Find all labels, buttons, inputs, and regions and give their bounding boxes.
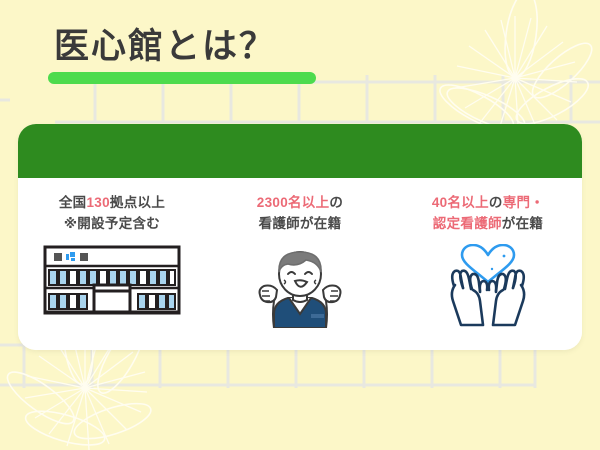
hands-heart-icon [436, 244, 540, 328]
certified-caption-line2: 認定看護師が在籍 [432, 213, 544, 234]
stats-columns: 全国130拠点以上 ※開設予定含む [18, 178, 582, 350]
nurses-line1-part2: の [329, 195, 343, 210]
stat-column-facilities: 全国130拠点以上 ※開設予定含む [18, 178, 206, 350]
certified-line1-highlight2: 専門・ [503, 195, 544, 210]
slide-root: 医心館とは？ 全国130拠点以上 ※開設予定含む [0, 0, 600, 450]
certified-illustration [436, 244, 540, 328]
facilities-line1-highlight: 130 [86, 195, 109, 210]
nurses-illustration [248, 244, 352, 328]
facilities-line1-part1: 全国 [59, 195, 87, 210]
right-hand [489, 271, 524, 325]
title-underline-highlight [48, 72, 316, 84]
building-sign-text [54, 252, 88, 261]
nurses-line1-highlight: 2300名以上 [257, 195, 330, 210]
facilities-caption-line2: ※開設予定含む [59, 213, 165, 234]
nurse-icon [248, 244, 352, 328]
certified-caption: 40名以上の専門・ 認定看護師が在籍 [432, 192, 544, 234]
certified-line2-highlight: 認定看護師 [433, 216, 502, 231]
nurses-caption-line2: 看護師が在籍 [257, 213, 343, 234]
nurses-caption-line1: 2300名以上の [257, 192, 343, 213]
title-text: 医心館とは？ [54, 22, 276, 72]
facilities-caption: 全国130拠点以上 ※開設予定含む [59, 192, 165, 234]
building-entrance [94, 285, 130, 313]
stats-card: 全国130拠点以上 ※開設予定含む [18, 124, 582, 350]
stat-column-nurses: 2300名以上の 看護師が在籍 [206, 178, 394, 350]
left-hand [452, 271, 487, 325]
certified-line2-part2: が在籍 [502, 216, 543, 231]
card-header-bar [18, 124, 582, 178]
building-icon [42, 244, 182, 320]
certified-line1-highlight1: 40名以上 [432, 195, 489, 210]
facilities-caption-line1: 全国130拠点以上 [59, 192, 165, 213]
facilities-illustration [42, 244, 182, 328]
building-windows-upper [49, 270, 175, 285]
certified-caption-line1: 40名以上の専門・ [432, 192, 544, 213]
facilities-line1-part3: 拠点以上 [110, 195, 165, 210]
certified-line1-part2: の [489, 195, 503, 210]
nurses-caption: 2300名以上の 看護師が在籍 [257, 192, 343, 234]
page-title: 医心館とは？ [48, 22, 378, 88]
stat-column-certified-nurses: 40名以上の専門・ 認定看護師が在籍 [394, 178, 582, 350]
